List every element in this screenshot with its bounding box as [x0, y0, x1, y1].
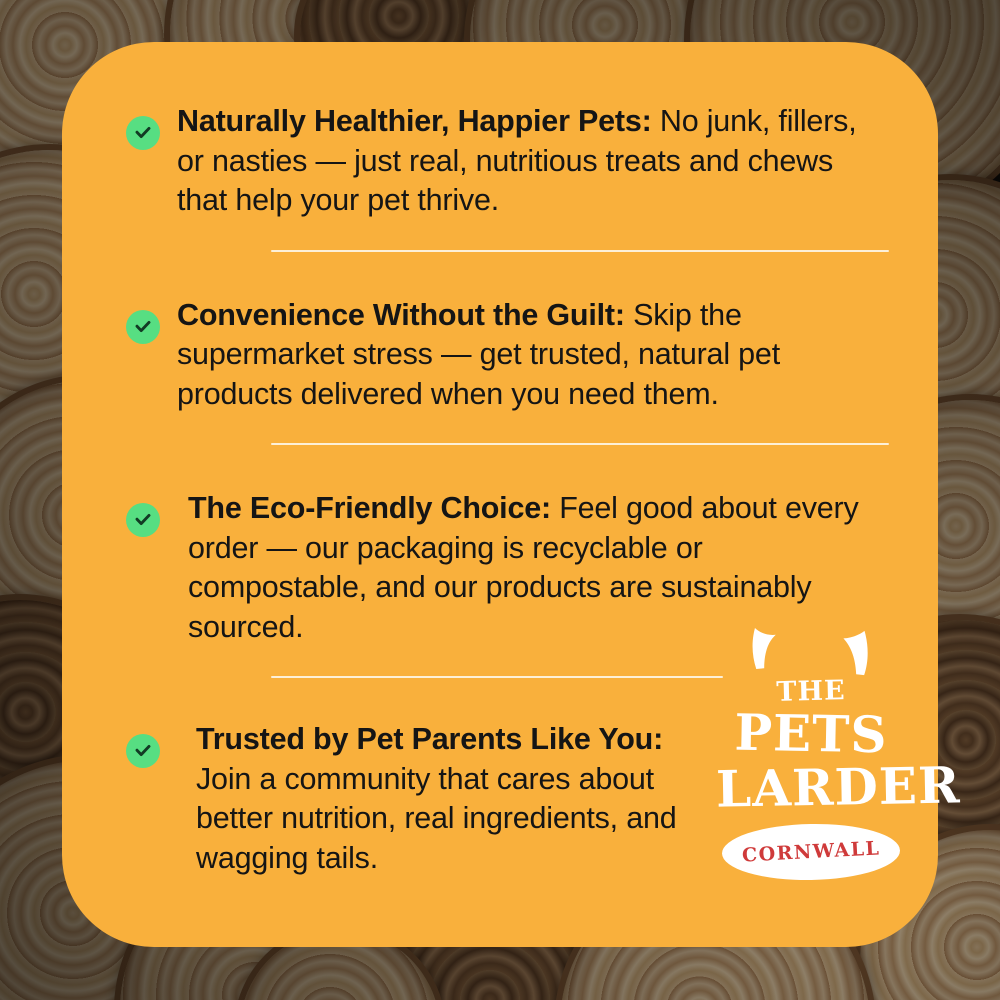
benefits-card: Naturally Healthier, Happier Pets: No ju…	[62, 42, 938, 947]
benefit-heading: Convenience Without the Guilt:	[177, 298, 625, 332]
benefit-body: Join a community that cares about better…	[196, 762, 677, 875]
check-circle-icon	[126, 734, 160, 768]
benefit-text: Naturally Healthier, Happier Pets: No ju…	[174, 102, 874, 221]
benefit-item: Naturally Healthier, Happier Pets: No ju…	[126, 102, 874, 221]
promo-graphic: Naturally Healthier, Happier Pets: No ju…	[0, 0, 1000, 1000]
benefit-item: The Eco-Friendly Choice: Feel good about…	[126, 489, 874, 647]
divider	[271, 250, 889, 252]
divider	[271, 676, 723, 678]
benefit-heading: Trusted by Pet Parents Like You:	[196, 722, 663, 756]
benefit-item: Trusted by Pet Parents Like You: Join a …	[126, 720, 874, 878]
benefit-item: Convenience Without the Guilt: Skip the …	[126, 296, 874, 415]
check-circle-icon	[126, 310, 160, 344]
benefit-heading: Naturally Healthier, Happier Pets:	[177, 104, 652, 138]
divider	[271, 443, 889, 445]
benefit-text: The Eco-Friendly Choice: Feel good about…	[174, 489, 874, 647]
benefit-text: Trusted by Pet Parents Like You: Join a …	[174, 720, 704, 878]
check-circle-icon	[126, 116, 160, 150]
check-circle-icon	[126, 503, 160, 537]
benefit-text: Convenience Without the Guilt: Skip the …	[174, 296, 874, 415]
benefit-heading: The Eco-Friendly Choice:	[188, 491, 551, 525]
